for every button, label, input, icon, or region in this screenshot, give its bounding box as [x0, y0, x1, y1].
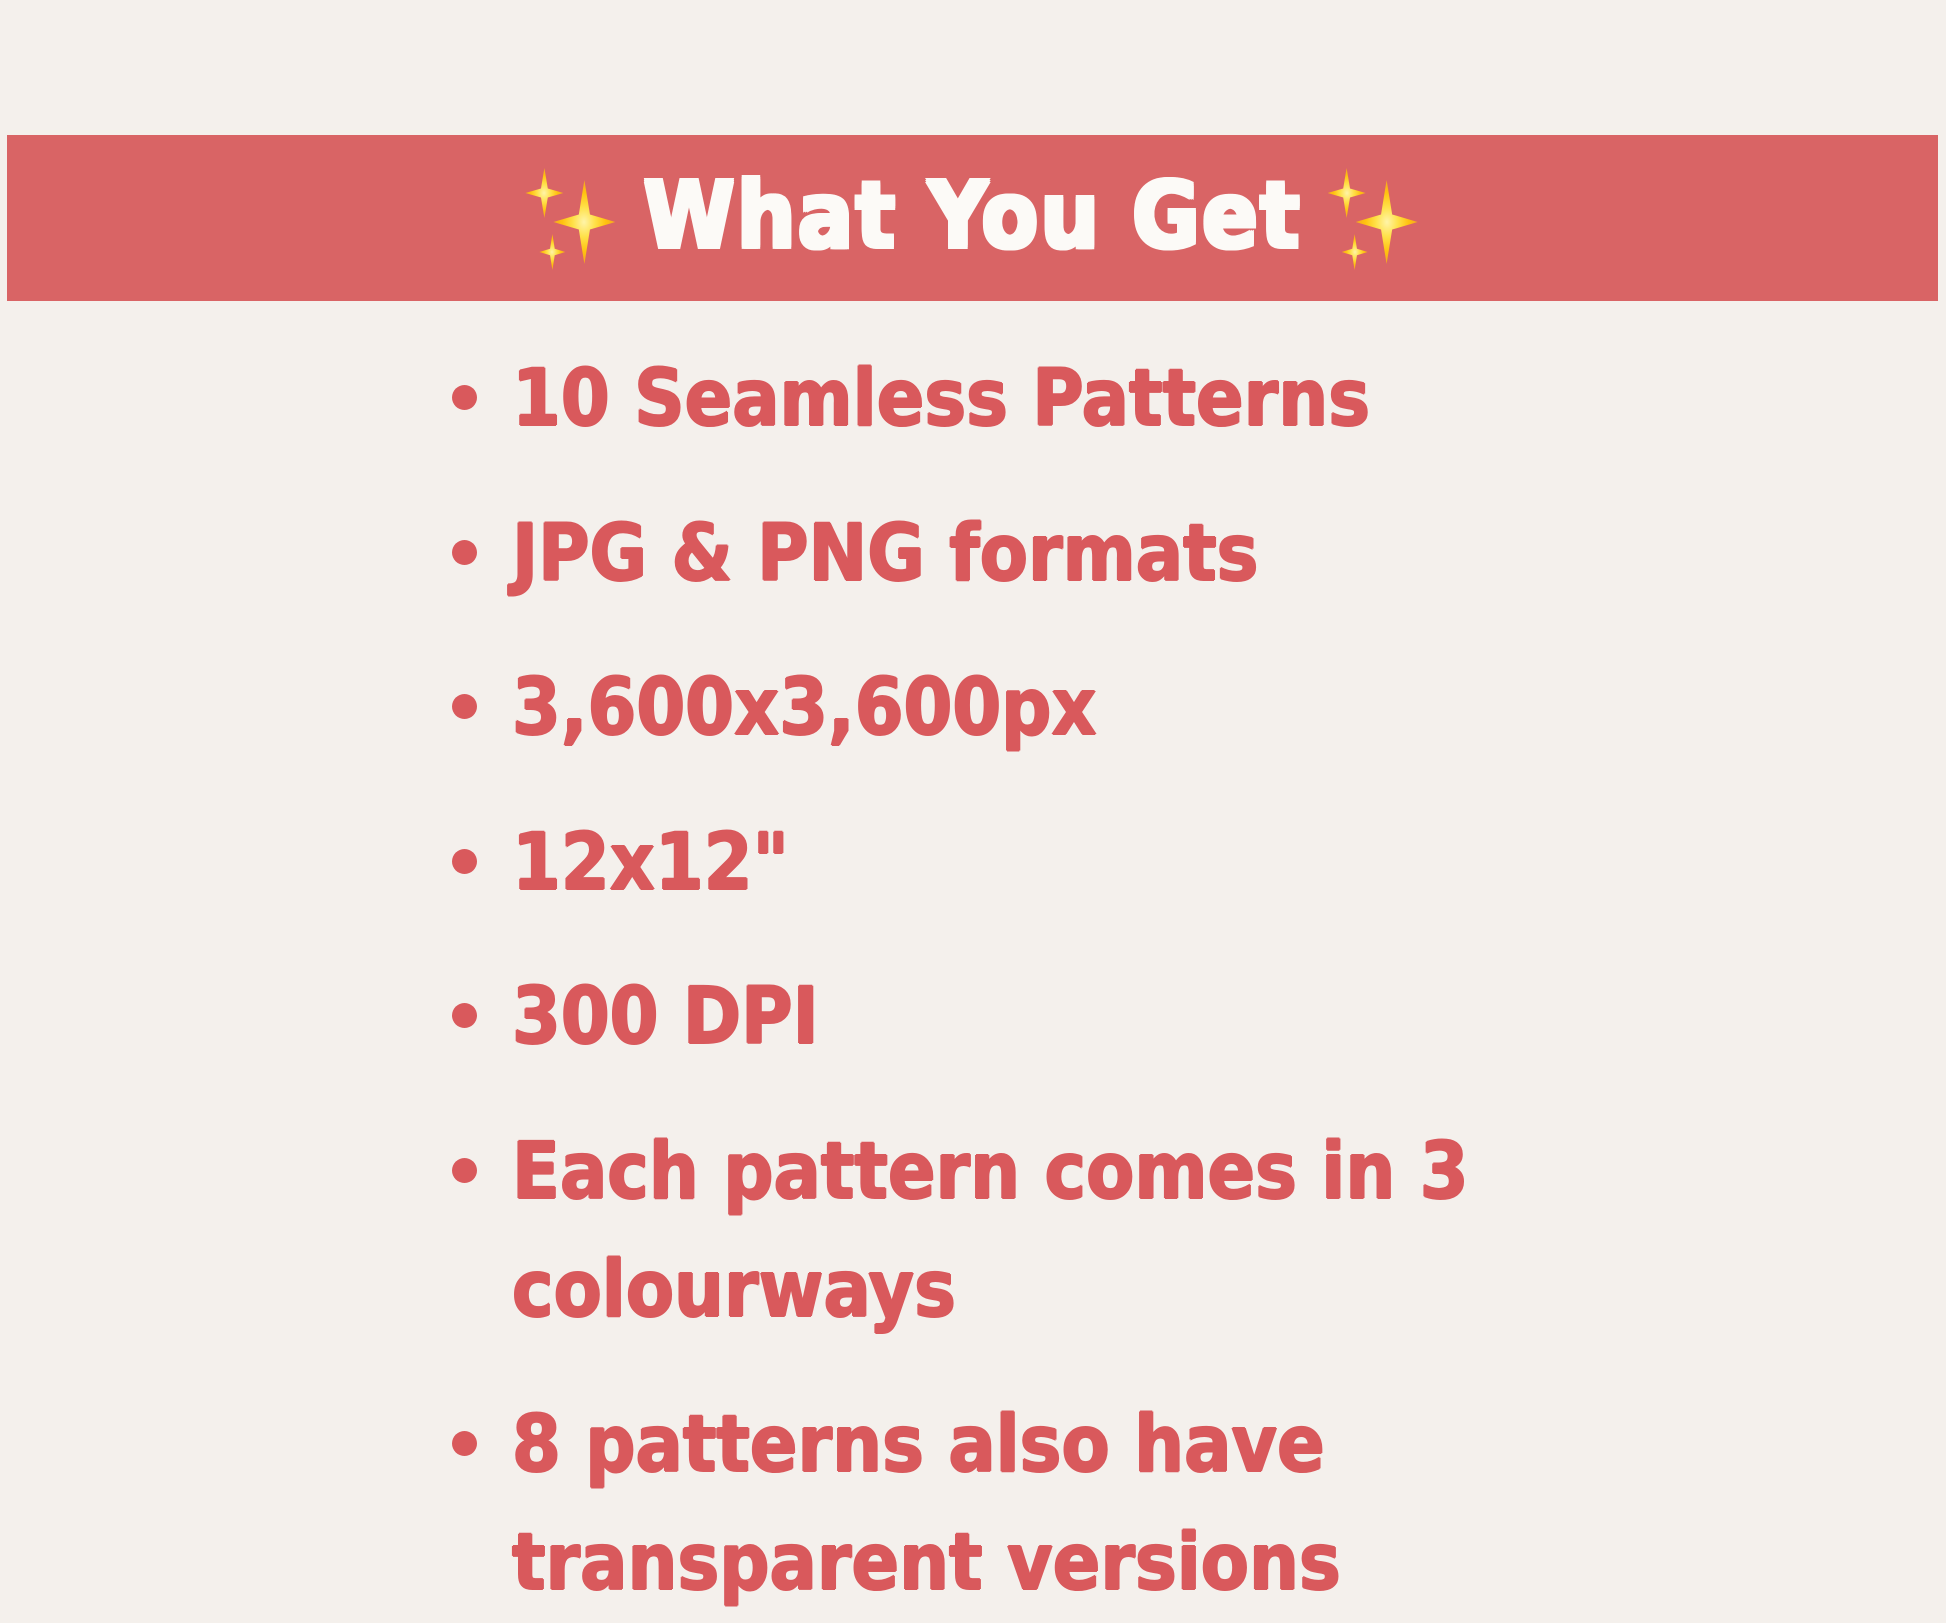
list-item: 12x12" [452, 804, 1632, 923]
feature-label: 300 DPI [512, 958, 819, 1077]
list-item: 8 patterns also have transparent version… [452, 1386, 1632, 1623]
bullet-dot-icon [452, 1431, 477, 1456]
sparkle-star-small [539, 234, 565, 270]
feature-label: Each pattern comes in 3 colourways [512, 1113, 1572, 1350]
list-item: 300 DPI [452, 958, 1632, 1077]
sparkles-icon-right [1328, 164, 1420, 268]
feature-label: JPG & PNG formats [512, 495, 1258, 614]
page-title: What You Get [643, 170, 1301, 262]
what-you-get-graphic: What You Get 10 Seamless Patterns JPG & … [0, 0, 1946, 1622]
bullet-dot-icon [452, 540, 477, 565]
sparkles-icon-left [525, 164, 617, 268]
sparkle-star-small [1342, 234, 1368, 270]
list-item: Each pattern comes in 3 colourways [452, 1113, 1632, 1350]
header-title-row: What You Get [525, 164, 1419, 268]
bullet-dot-icon [452, 1003, 477, 1028]
list-item: 10 Seamless Patterns [452, 340, 1632, 459]
sparkle-star-medium [525, 168, 563, 218]
feature-label: 10 Seamless Patterns [512, 340, 1370, 459]
bullet-dot-icon [452, 694, 477, 719]
list-item: JPG & PNG formats [452, 495, 1632, 614]
feature-label: 12x12" [512, 804, 789, 923]
bullet-dot-icon [452, 849, 477, 874]
sparkle-star-medium [1328, 168, 1366, 218]
list-item: 3,600x3,600px [452, 649, 1632, 768]
bullet-dot-icon [452, 385, 477, 410]
bullet-dot-icon [452, 1158, 477, 1183]
feature-label: 3,600x3,600px [512, 649, 1097, 768]
feature-label: 8 patterns also have transparent version… [512, 1386, 1572, 1623]
feature-list: 10 Seamless Patterns JPG & PNG formats 3… [452, 340, 1632, 1623]
header-banner: What You Get [7, 135, 1938, 301]
